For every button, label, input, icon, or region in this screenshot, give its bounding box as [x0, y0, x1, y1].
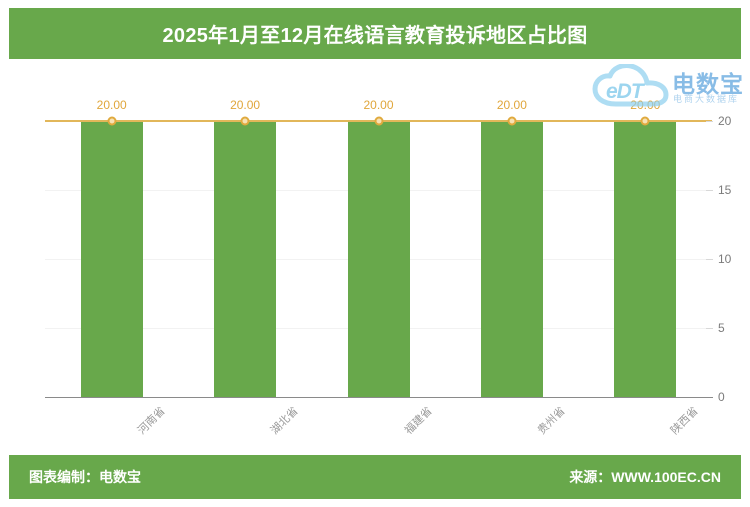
y-axis-tick-label: 5 — [718, 321, 725, 335]
bar[interactable] — [81, 121, 143, 397]
data-label: 20.00 — [497, 98, 527, 112]
data-label: 20.00 — [97, 98, 127, 112]
chart-header: 2025年1月至12月在线语言教育投诉地区占比图 — [9, 8, 741, 59]
chart-footer: 图表编制：电数宝 来源：WWW.100EC.CN — [9, 455, 741, 499]
footer-credit: 图表编制：电数宝 — [29, 467, 141, 487]
footer-source: 来源：WWW.100EC.CN — [569, 467, 721, 487]
plot-wrapper: 20.0020.0020.0020.0020.00河南省湖北省福建省贵州省陕西省… — [0, 60, 750, 455]
page-title: 2025年1月至12月在线语言教育投诉地区占比图 — [162, 19, 587, 48]
x-axis-category-label: 贵州省 — [534, 403, 569, 438]
y-axis-tick-mark — [706, 328, 713, 329]
y-axis-tick-label: 20 — [718, 114, 731, 128]
trend-line-segment — [245, 120, 378, 122]
trend-line-segment — [512, 120, 645, 122]
y-axis-tick-label: 15 — [718, 183, 731, 197]
y-axis-tick-label: 10 — [718, 252, 731, 266]
x-axis-category-label: 福建省 — [400, 403, 435, 438]
bar[interactable] — [614, 121, 676, 397]
data-point-marker[interactable] — [374, 117, 383, 126]
axis-baseline — [45, 397, 712, 398]
bar[interactable] — [481, 121, 543, 397]
data-label: 20.00 — [230, 98, 260, 112]
data-point-marker[interactable] — [241, 117, 250, 126]
trend-line-segment — [112, 120, 245, 122]
y-axis-tick-mark — [706, 190, 713, 191]
data-point-marker[interactable] — [641, 117, 650, 126]
plot-area: 20.0020.0020.0020.0020.00河南省湖北省福建省贵州省陕西省 — [45, 60, 712, 405]
x-axis-category-label: 河南省 — [133, 403, 168, 438]
trend-line-segment — [379, 120, 512, 122]
y-axis-tick-mark — [706, 121, 713, 122]
x-axis-category-label: 陕西省 — [667, 403, 702, 438]
data-point-marker[interactable] — [507, 117, 516, 126]
y-axis-tick-label: 0 — [718, 390, 725, 404]
bar[interactable] — [214, 121, 276, 397]
chart-card: 2025年1月至12月在线语言教育投诉地区占比图 20.0020.0020.00… — [0, 0, 750, 507]
trend-line-extension — [645, 120, 712, 122]
x-axis-category-label: 湖北省 — [267, 403, 302, 438]
trend-line-extension — [45, 120, 112, 122]
data-label: 20.00 — [363, 98, 393, 112]
y-axis-tick-mark — [706, 259, 713, 260]
data-point-marker[interactable] — [107, 117, 116, 126]
bar[interactable] — [348, 121, 410, 397]
y-axis-tick-mark — [706, 397, 713, 398]
data-label: 20.00 — [630, 98, 660, 112]
